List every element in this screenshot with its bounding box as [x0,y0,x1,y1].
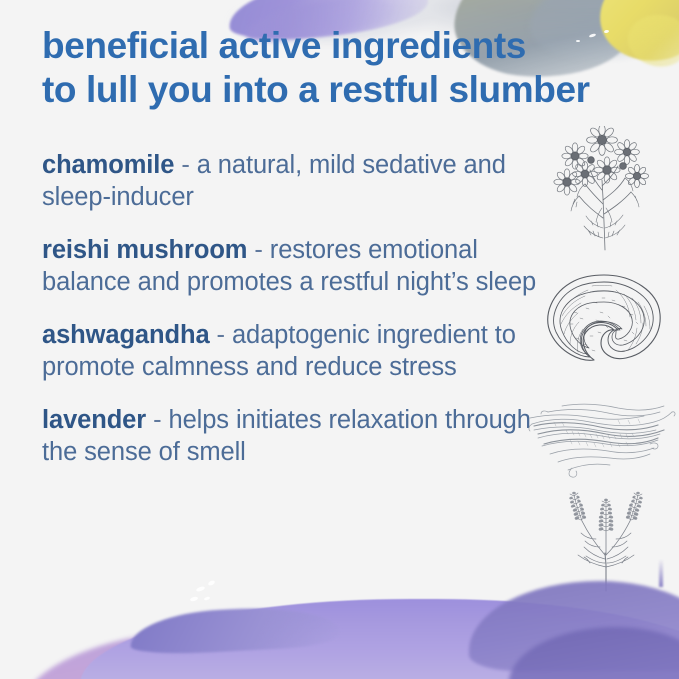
chamomile-flowers-sketch-icon [545,126,665,251]
ingredient-name-lavender: lavender [42,406,146,434]
list-item-ashwagandha: ashwagandha - adaptogenic ingredient to … [42,319,542,383]
watercolor-bottom-main-wash [80,599,679,679]
ingredient-separator: - [153,406,161,434]
lavender-sprigs-sketch-icon [552,487,660,592]
ashwagandha-root-sketch-icon [528,388,676,480]
ingredient-separator: - [181,151,189,179]
ingredient-separator: - [217,321,225,349]
ingredient-name-ashwagandha: ashwagandha [42,321,210,349]
list-item-chamomile: chamomile - a natural, mild sedative and… [42,149,542,213]
product-infographic: beneficial active ingredients to lull yo… [0,0,679,679]
watercolor-speck [196,586,206,593]
watercolor-speck [190,596,199,602]
watercolor-bottom-left-wash [20,629,440,679]
ingredient-separator: - [254,236,262,264]
list-item-reishi-mushroom: reishi mushroom - restores emotional bal… [42,234,542,298]
watercolor-bottom-dark-wash [469,581,679,671]
page-title: beneficial active ingredients to lull yo… [42,24,679,112]
watercolor-bottom-dark-wash-accent [509,627,679,679]
ingredient-list: chamomile - a natural, mild sedative and… [42,149,542,468]
list-item-lavender: lavender - helps initiates relaxation th… [42,404,542,468]
watercolor-speck [207,580,215,587]
watercolor-bottom-edge-stroke [129,604,341,657]
reishi-mushroom-sketch-icon [540,268,668,372]
ingredient-name-chamomile: chamomile [42,151,174,179]
watercolor-speck [204,596,211,601]
ingredient-name-reishi-mushroom: reishi mushroom [42,236,247,264]
